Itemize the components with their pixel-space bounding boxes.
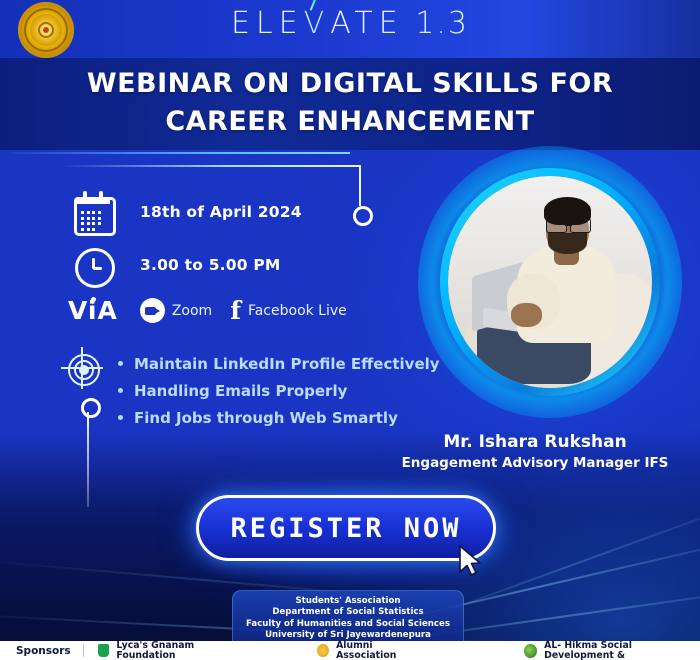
sponsors-footer: Sponsors Lyca's Gnanam Foundation Alumni…	[0, 641, 700, 660]
connector-line-bottom	[87, 412, 89, 507]
topic-item: Maintain LinkedIn Profile Effectively	[118, 355, 440, 373]
register-button-label: REGISTER NOW	[230, 513, 461, 544]
sponsors-label: Sponsors	[16, 645, 71, 657]
title-banner: WEBINAR ON DIGITAL SKILLS FOR CAREER ENH…	[0, 58, 700, 150]
zoom-label: Zoom	[172, 303, 212, 319]
date-row: 18th of April 2024	[70, 190, 302, 234]
speaker-photo	[440, 168, 660, 396]
via-label: ViA	[68, 296, 118, 325]
topic-item: Find Jobs through Web Smartly	[118, 409, 440, 427]
facebook-icon: f	[230, 298, 241, 323]
connector-dot-bottom	[81, 398, 101, 418]
date-value: 18th of April 2024	[140, 203, 302, 221]
facebook-label: Facebook Live	[248, 303, 347, 319]
alumni-logo-icon	[317, 644, 329, 657]
webinar-poster: ELEVATE 1.3 WEBINAR ON DIGITAL SKILLS FO…	[0, 0, 700, 660]
lyca-logo-icon	[98, 644, 110, 657]
title-line-2: CAREER ENHANCEMENT	[0, 106, 700, 137]
organizer-line: Students' Association	[233, 596, 463, 607]
elevate-logo-part2: ATE	[330, 6, 403, 41]
register-now-button[interactable]: REGISTER NOW	[196, 495, 496, 561]
footer-divider	[83, 644, 84, 657]
platform-row: ViA Zoom f Facebook Live	[68, 296, 347, 325]
organizer-line: Faculty of Humanities and Social Science…	[233, 619, 463, 630]
sponsor-item-alumni: Alumni Association	[317, 641, 426, 660]
elevate-logo-part1: ELE	[231, 6, 304, 41]
organizer-panel: Students' Association Department of Soci…	[232, 590, 464, 642]
organizer-line: Department of Social Statistics	[233, 607, 463, 618]
time-value: 3.00 to 5.00 PM	[140, 256, 281, 274]
topics-list: Maintain LinkedIn Profile Effectively Ha…	[118, 355, 440, 436]
elevate-logo-v: V	[304, 6, 331, 41]
sponsor-item-hikma: AL- Hikma Social Development &	[524, 641, 700, 660]
header-divider	[10, 152, 350, 154]
sponsor-name: Lyca's Gnanam Foundation	[116, 641, 243, 660]
sponsor-item-lyca: Lyca's Gnanam Foundation	[98, 641, 244, 660]
speaker-name: Mr. Ishara Rukshan	[380, 432, 690, 452]
elevate-version: 1.3	[415, 6, 469, 41]
clock-icon	[70, 243, 114, 287]
calendar-icon	[70, 190, 114, 234]
topic-item: Handling Emails Properly	[118, 382, 440, 400]
photo-image	[448, 176, 652, 388]
hikma-logo-icon	[524, 644, 537, 658]
zoom-icon	[140, 298, 165, 323]
mouse-cursor-icon	[458, 545, 484, 577]
elevate-logo: ELEVATE 1.3	[0, 6, 700, 41]
connector-line-horizontal	[60, 165, 360, 167]
connector-dot-top	[353, 206, 373, 226]
speaker-role: Engagement Advisory Manager IFS	[370, 455, 700, 471]
connector-line-vertical	[359, 165, 361, 206]
time-row: 3.00 to 5.00 PM	[70, 243, 281, 287]
sponsor-name: AL- Hikma Social Development &	[544, 641, 700, 660]
target-icon	[62, 348, 106, 392]
title-line-1: WEBINAR ON DIGITAL SKILLS FOR	[0, 68, 700, 99]
sponsor-name: Alumni Association	[336, 641, 426, 660]
